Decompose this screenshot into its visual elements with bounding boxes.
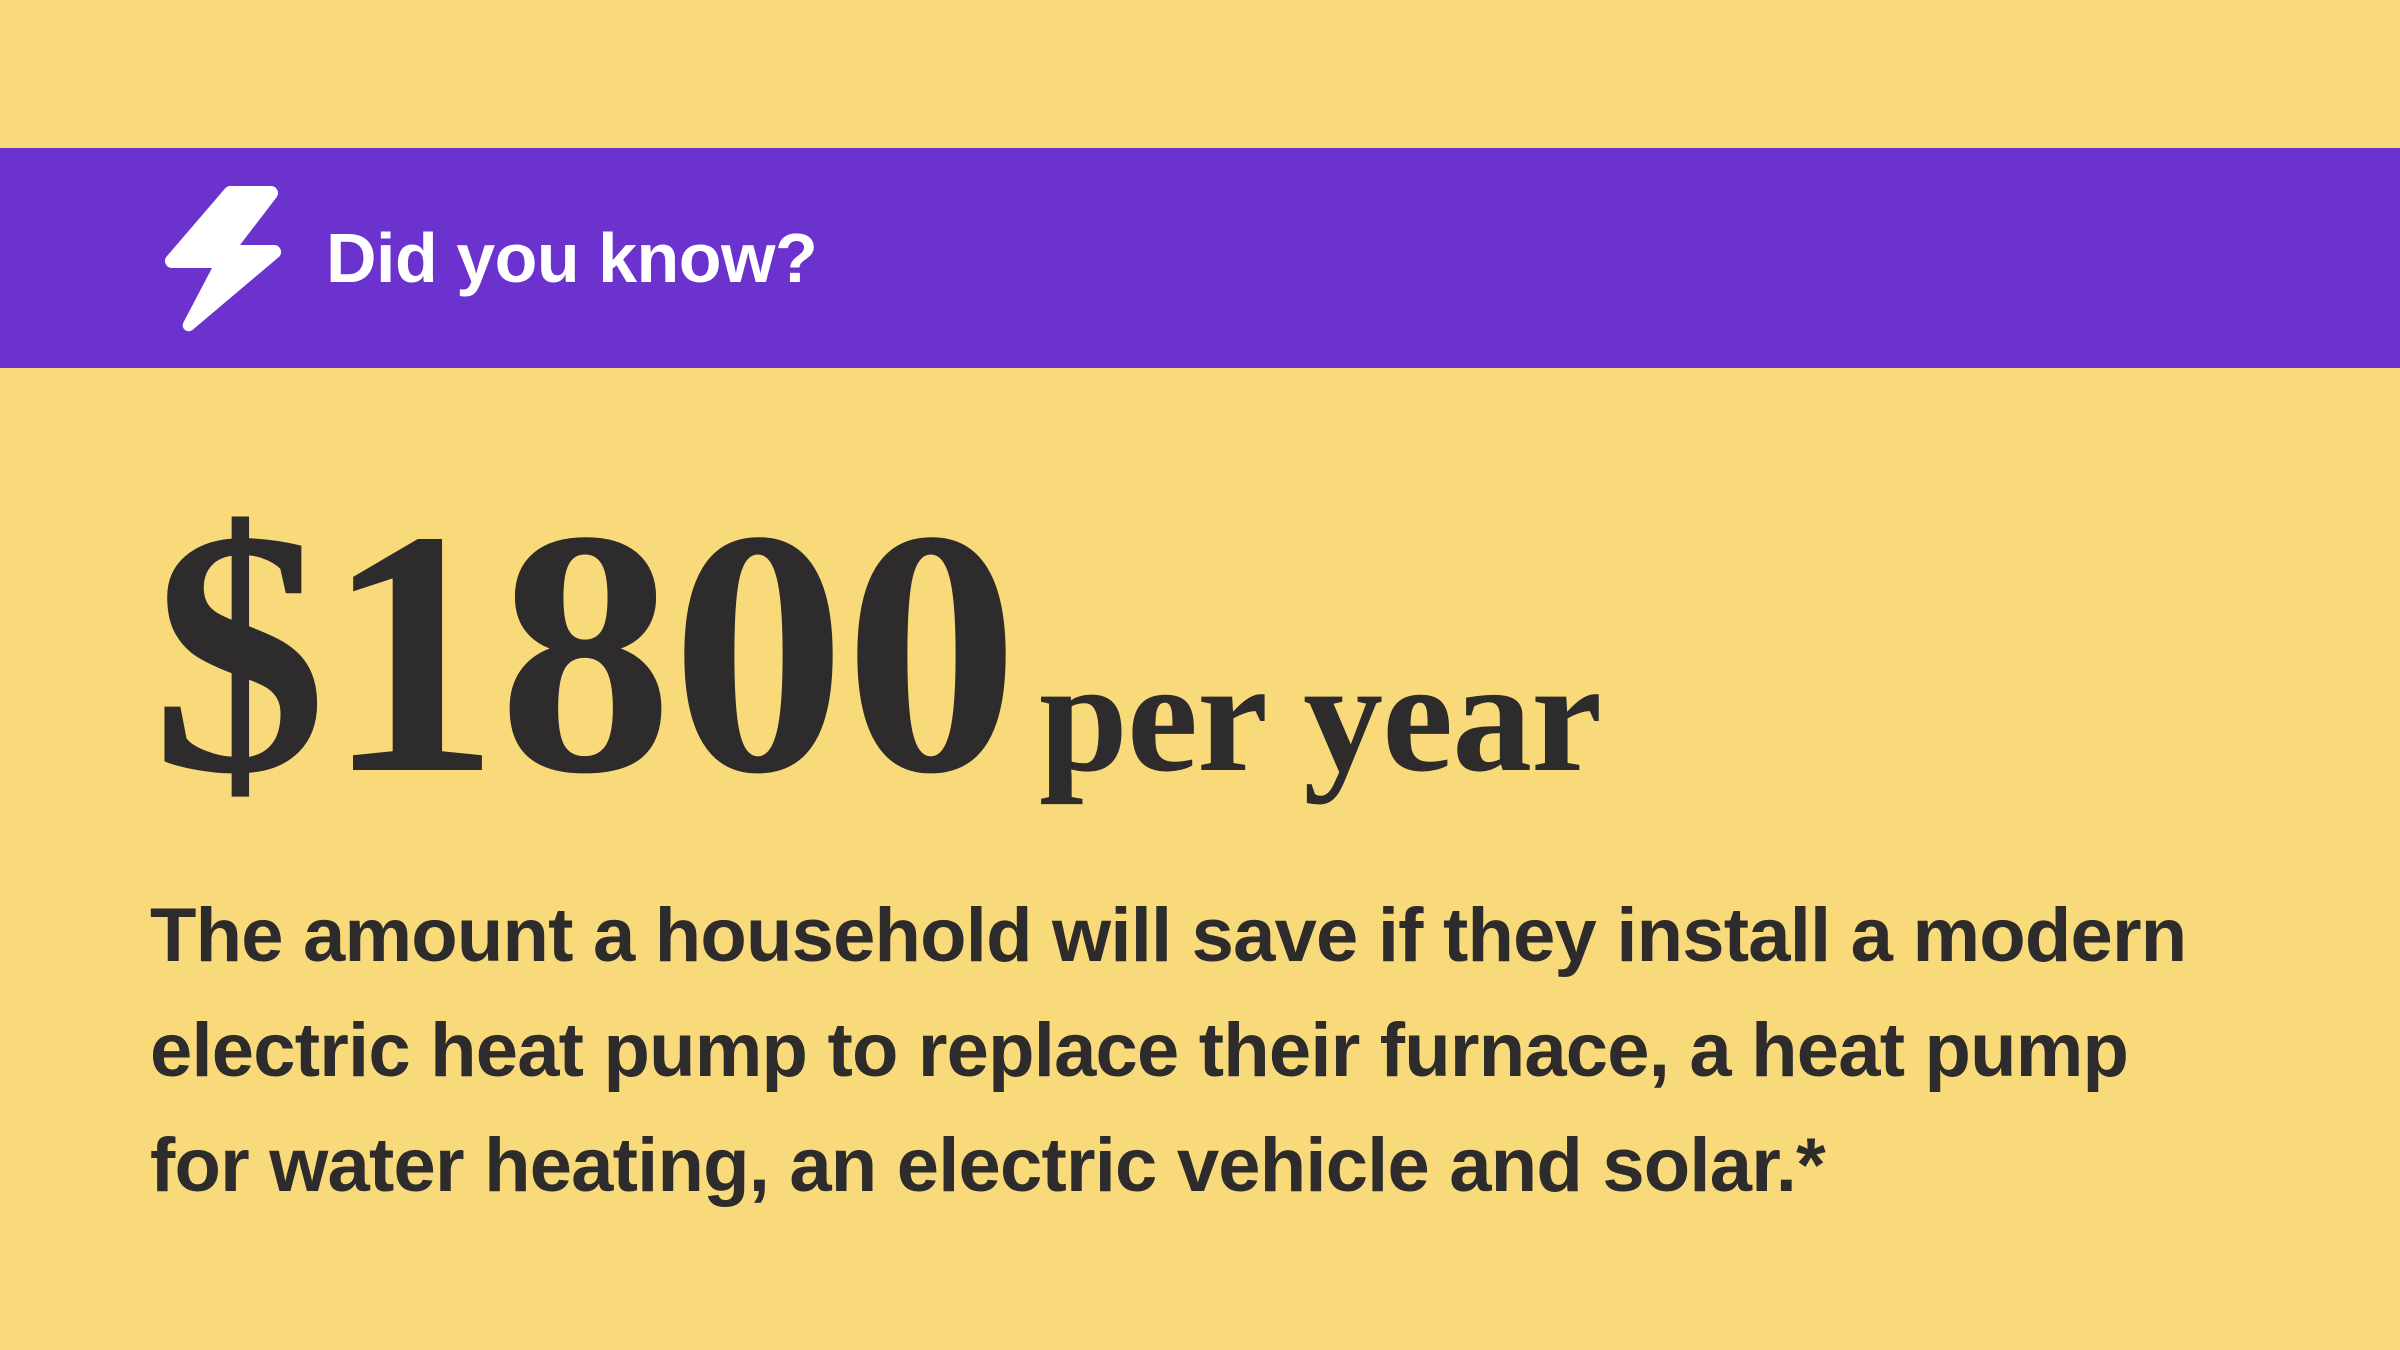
headline: $1800 per year xyxy=(152,498,1601,806)
headline-amount: $1800 xyxy=(152,498,1017,806)
description-line: for water heating, an electric vehicle a… xyxy=(150,1108,2260,1223)
did-you-know-banner: Did you know? xyxy=(0,148,2400,368)
headline-unit: per year xyxy=(1039,636,1601,796)
infographic-card: Did you know? $1800 per year The amount … xyxy=(0,0,2400,1350)
description-line: The amount a household will save if they… xyxy=(150,878,2260,993)
description-paragraph: The amount a household will save if they… xyxy=(150,878,2260,1223)
description-line: electric heat pump to replace their furn… xyxy=(150,993,2260,1108)
lightning-bolt-icon xyxy=(163,183,281,333)
banner-title: Did you know? xyxy=(326,223,817,293)
